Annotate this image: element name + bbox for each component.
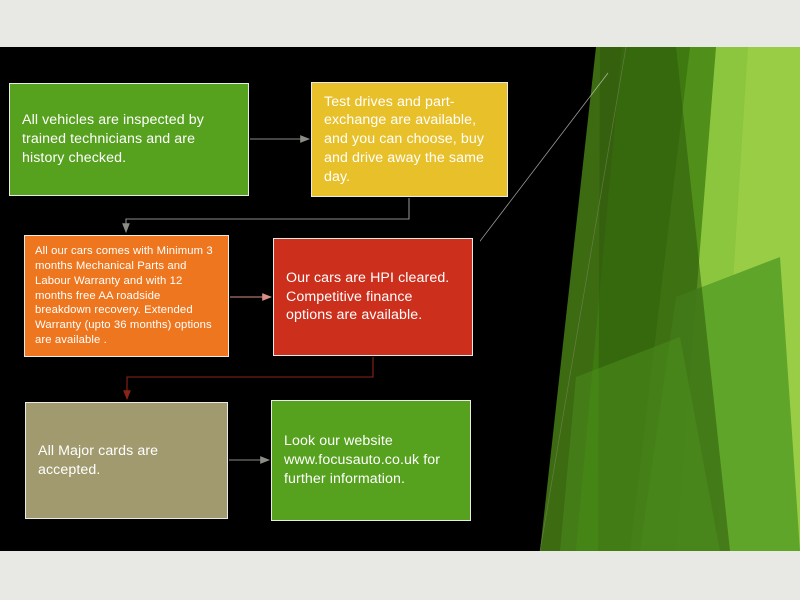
flow-box-testdrive-text: Test drives and part-exchange are availa… — [324, 93, 495, 187]
flow-box-cards-text: All Major cards are accepted. — [38, 442, 215, 479]
flow-box-hpi[interactable]: Our cars are HPI cleared. Competitive fi… — [273, 238, 473, 356]
connector-testdrive-to-warranty — [126, 198, 409, 232]
flow-box-inspected-text: All vehicles are inspected by trained te… — [22, 111, 236, 167]
flow-box-inspected[interactable]: All vehicles are inspected by trained te… — [9, 83, 249, 196]
flow-box-warranty[interactable]: All our cars comes with Minimum 3 months… — [24, 235, 229, 357]
slide-canvas: All vehicles are inspected by trained te… — [0, 47, 800, 551]
flow-box-website[interactable]: Look our website www.focusauto.co.uk for… — [271, 400, 471, 521]
flow-box-warranty-text: All our cars comes with Minimum 3 months… — [35, 244, 218, 348]
flow-box-website-text: Look our website www.focusauto.co.uk for… — [284, 432, 458, 488]
slide-frame: All vehicles are inspected by trained te… — [0, 0, 800, 600]
connector-hpi-to-cards — [127, 357, 373, 399]
flow-box-hpi-text: Our cars are HPI cleared. Competitive fi… — [286, 269, 460, 325]
abstract-green-graphic — [480, 47, 800, 551]
flow-box-testdrive[interactable]: Test drives and part-exchange are availa… — [311, 82, 508, 197]
flow-box-cards[interactable]: All Major cards are accepted. — [25, 402, 228, 519]
